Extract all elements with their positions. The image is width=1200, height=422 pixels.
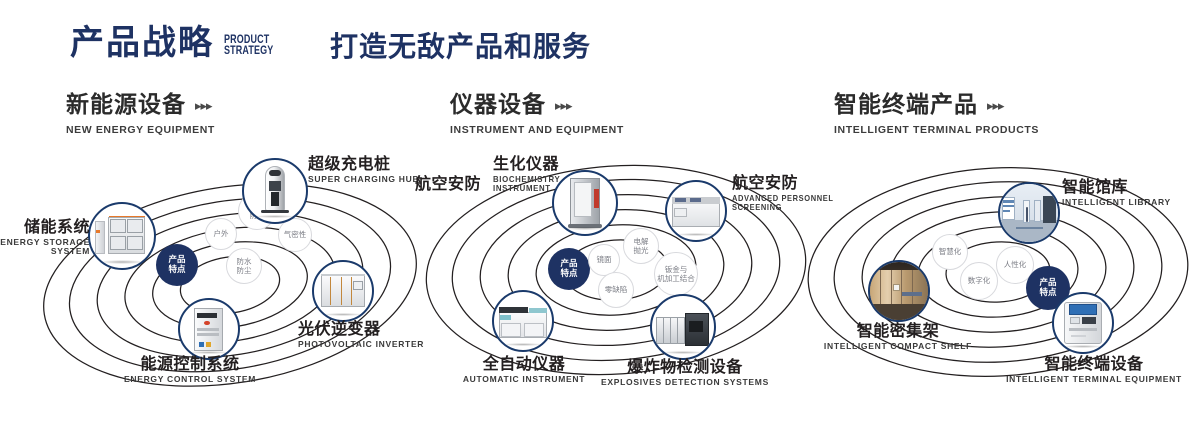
pv-inverter-cabinet-icon [314,262,372,320]
feature-bubble: 电解 抛光 [623,228,659,264]
energy-storage-cabinet-icon [90,204,154,268]
node-energy-storage-system[interactable] [88,202,156,270]
node-energy-control-system[interactable] [178,298,240,360]
label-photovoltaic-inverter: 光伏逆变器 PHOTOVOLTAIC INVERTER [298,320,438,349]
feature-bubble: 钣金与 机加工结合 [654,252,698,296]
cluster-intelligent-terminal-products: 智慧化 数字化 人性化 产品 特点 [800,150,1200,415]
feature-bubble: 气密性 [278,218,312,252]
feature-bubble: 智慧化 [932,234,968,270]
automatic-analyzer-icon [494,292,552,350]
product-strategy-infographic: 产品战略 PRODUCT STRATEGY 打造无敌产品和服务 新能源设备 ▸▸… [0,0,1200,422]
section-title-en: NEW ENERGY EQUIPMENT [66,124,215,136]
section-title-cn: 新能源设备 [66,94,186,117]
cluster-new-energy-equipment: 产品 特点 户外 防腐 防锈 气密性 防水 防尘 [30,150,430,415]
label-energy-storage-system: 储能系统 ENERGY STORAGE SYSTEM [0,218,90,257]
feature-bubble-main: 产品 特点 [156,244,198,286]
node-automatic-instrument[interactable] [492,290,554,352]
section-title-intelligent: 智能终端产品 ▸▸▸ INTELLIGENT TERMINAL PRODUCTS [834,94,1039,136]
charging-pile-icon [244,160,306,222]
node-advanced-personnel-screening[interactable] [665,180,727,242]
section-title-instrument: 仪器设备 ▸▸▸ INSTRUMENT AND EQUIPMENT [450,94,624,136]
label-intelligent-terminal-equipment: 智能终端设备 INTELLIGENT TERMINAL EQUIPMENT [988,355,1200,384]
cluster-instrument-and-equipment: 产品 特点 镜面 电解 抛光 钣金与 机加工结合 零缺陷 生化仪器 BIOCH [420,150,820,415]
screening-machine-icon [667,182,725,240]
chevrons-icon: ▸▸▸ [195,99,212,112]
label-explosives-detection-systems: 爆炸物检测设备 EXPLOSIVES DETECTION SYSTEMS [580,358,790,387]
chevrons-icon: ▸▸▸ [555,99,572,112]
node-intelligent-compact-shelf[interactable] [868,260,930,322]
page-header: 产品战略 PRODUCT STRATEGY [70,26,287,60]
label-intelligent-library: 智能馆库 INTELLIGENT LIBRARY [1062,178,1192,207]
explosives-detector-icon [652,296,714,358]
label-biochemistry-instrument: 生化仪器 BIOCHEMISTRY INSTRUMENT [493,155,623,194]
feature-bubble: 数字化 [960,262,998,300]
label-intelligent-compact-shelf: 智能密集架 INTELLIGENT COMPACT SHELF [798,322,998,351]
control-cabinet-icon [180,300,238,358]
feature-bubble: 防水 防尘 [226,248,262,284]
section-title-cn: 仪器设备 [450,94,546,117]
feature-bubble: 零缺陷 [598,272,634,308]
page-subtitle: 打造无敌产品和服务 [330,33,591,61]
label-aviation-security: 航空安防 [415,175,505,193]
section-title-en: INTELLIGENT TERMINAL PRODUCTS [834,124,1039,136]
self-service-kiosk-icon [1054,294,1112,352]
smart-library-icon [1000,184,1058,242]
chevrons-icon: ▸▸▸ [987,99,1004,112]
compact-shelf-icon [870,262,928,320]
feature-bubble-main: 产品 特点 [548,248,590,290]
node-super-charging-hub[interactable] [242,158,308,224]
section-title-cn: 智能终端产品 [834,94,978,117]
feature-bubble: 户外 [205,218,237,250]
node-explosives-detection-systems[interactable] [650,294,716,360]
page-title-en: PRODUCT STRATEGY [224,35,273,58]
label-energy-control-system: 能源控制系统 ENERGY CONTROL SYSTEM [70,355,310,384]
section-title-en: INSTRUMENT AND EQUIPMENT [450,124,624,136]
section-title-new-energy: 新能源设备 ▸▸▸ NEW ENERGY EQUIPMENT [66,94,215,136]
node-photovoltaic-inverter[interactable] [312,260,374,322]
node-intelligent-terminal-equipment[interactable] [1052,292,1114,354]
page-title: 产品战略 [70,26,214,60]
node-intelligent-library[interactable] [998,182,1060,244]
